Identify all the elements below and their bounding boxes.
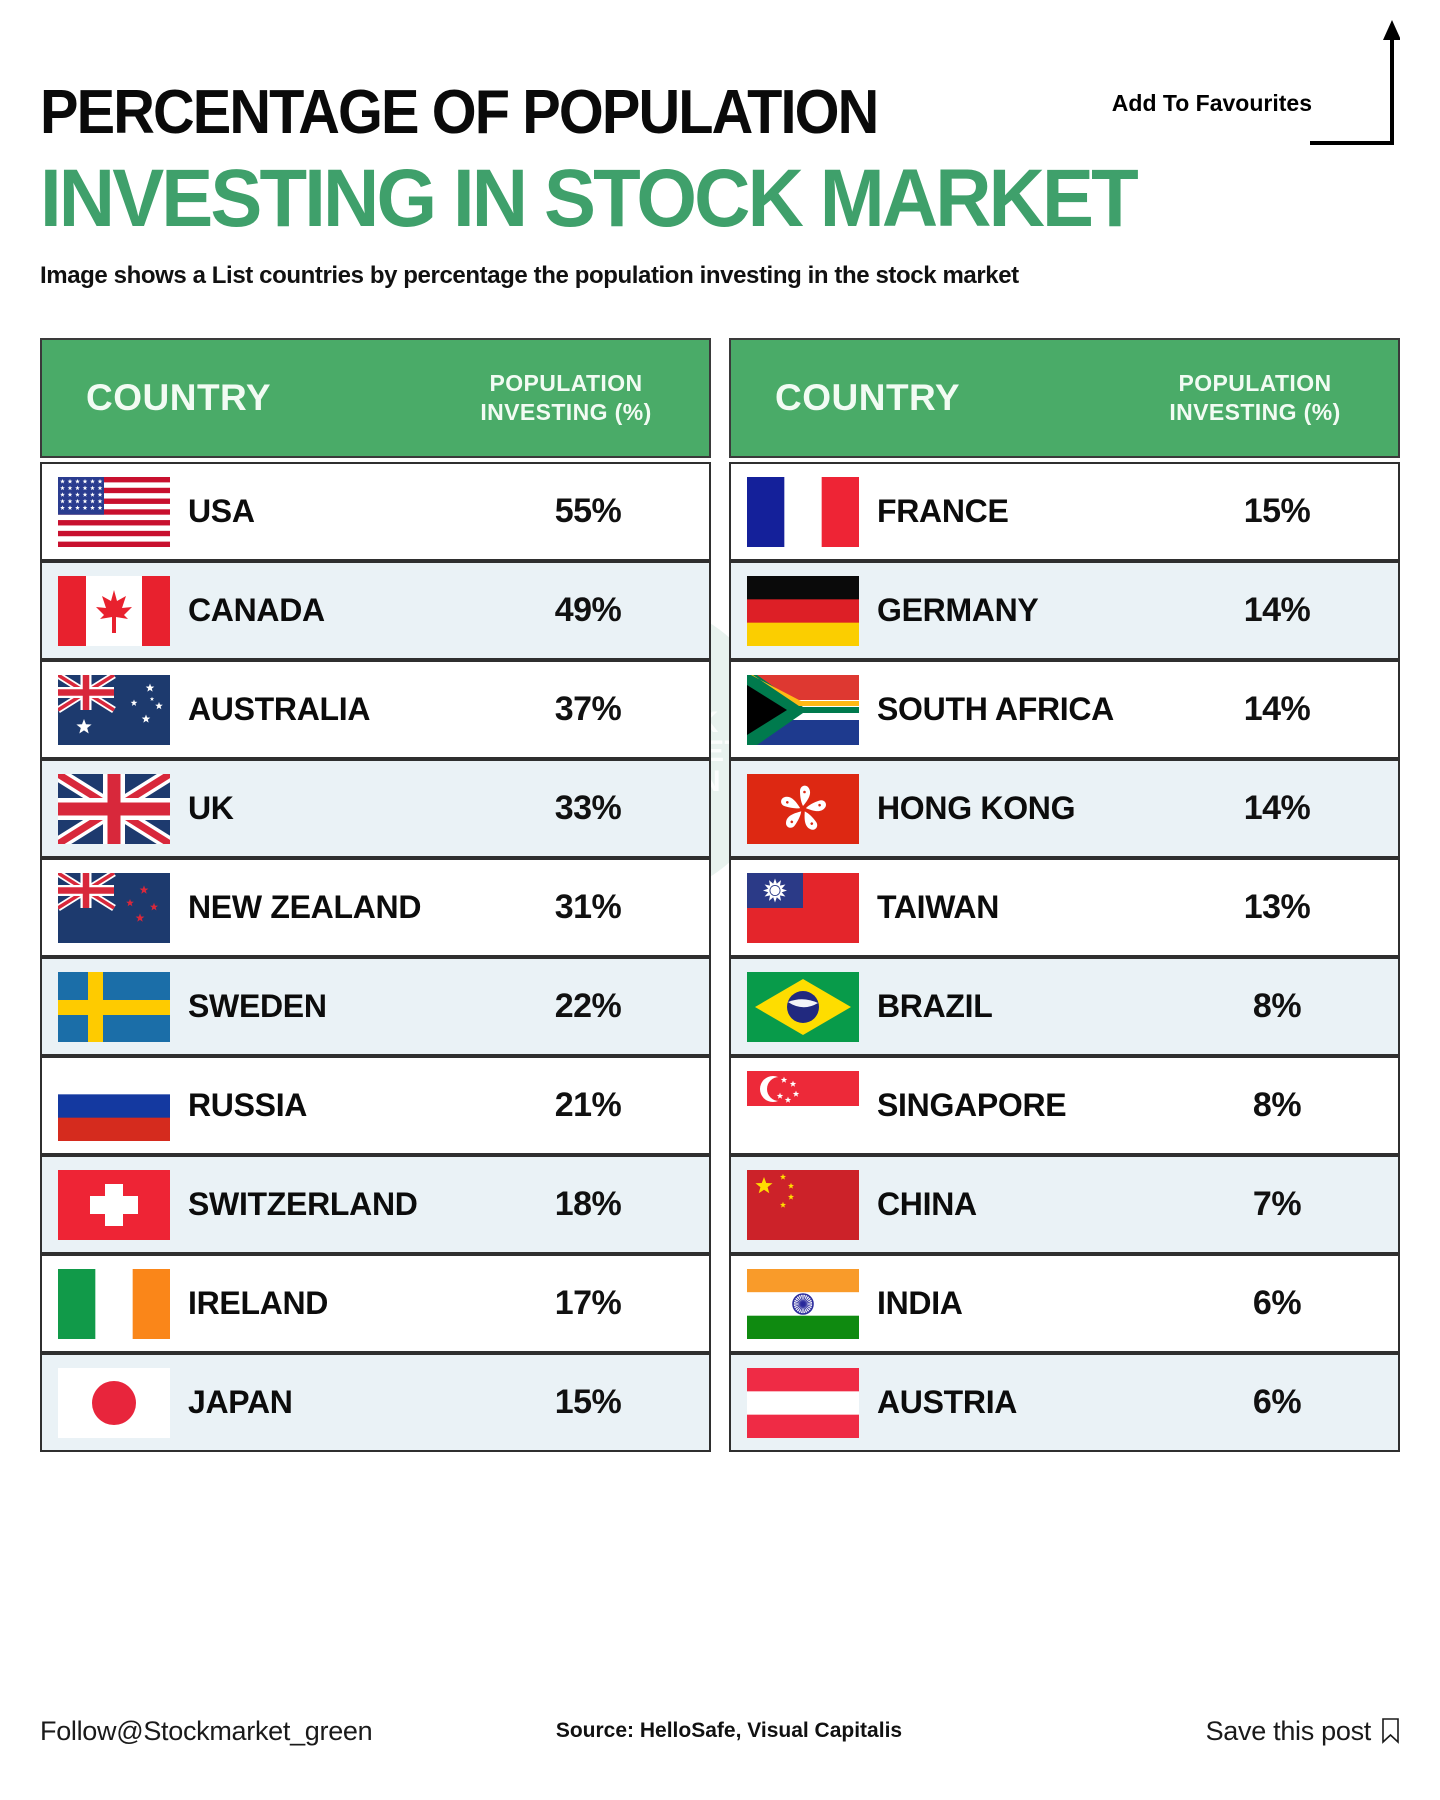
south-africa-flag	[747, 675, 859, 745]
country-name: FRANCE	[859, 493, 1172, 530]
table-row: SOUTH AFRICA14%	[729, 660, 1400, 759]
population-investing-value: 17%	[483, 1284, 693, 1323]
china-flag	[747, 1170, 859, 1240]
population-investing-value: 14%	[1172, 591, 1382, 630]
population-investing-value: 31%	[483, 888, 693, 927]
table-row: UK33%	[40, 759, 711, 858]
table-row: INDIA6%	[729, 1254, 1400, 1353]
right-table-body: FRANCE15%GERMANY14% SOUTH AFRICA14% HONG…	[729, 462, 1400, 1452]
table-row: SWITZERLAND18%	[40, 1155, 711, 1254]
population-investing-value: 18%	[483, 1185, 693, 1224]
population-investing-value: 6%	[1172, 1284, 1382, 1323]
country-name: IRELAND	[170, 1285, 483, 1322]
table-row: FRANCE15%	[729, 462, 1400, 561]
population-investing-value: 15%	[1172, 492, 1382, 531]
column-header-line2: INVESTING (%)	[441, 398, 691, 427]
canada-flag	[58, 576, 170, 646]
right-table: COUNTRY POPULATION INVESTING (%) FRANCE1…	[729, 338, 1400, 1452]
table-row: NEW ZEALAND31%	[40, 858, 711, 957]
france-flag	[747, 477, 859, 547]
brazil-flag	[747, 972, 859, 1042]
germany-flag	[747, 576, 859, 646]
population-investing-value: 14%	[1172, 690, 1382, 729]
switzerland-flag	[58, 1170, 170, 1240]
country-name: SWITZERLAND	[170, 1186, 483, 1223]
country-name: AUSTRALIA	[170, 691, 483, 728]
page-footer: Follow@Stockmarket_green Source: HelloSa…	[40, 1706, 1400, 1756]
population-investing-value: 15%	[483, 1383, 693, 1422]
hong-kong-flag	[747, 774, 859, 844]
table-row: RUSSIA21%	[40, 1056, 711, 1155]
add-to-favourites-label: Add To Favourites	[1112, 90, 1312, 117]
country-name: CANADA	[170, 592, 483, 629]
table-row: AUSTRALIA37%	[40, 660, 711, 759]
table-row: BRAZIL8%	[729, 957, 1400, 1056]
country-name: SWEDEN	[170, 988, 483, 1025]
singapore-flag	[747, 1071, 859, 1141]
population-investing-value: 13%	[1172, 888, 1382, 927]
russia-flag	[58, 1071, 170, 1141]
bookmark-icon	[1381, 1718, 1400, 1744]
population-investing-value: 22%	[483, 987, 693, 1026]
new-zealand-flag	[58, 873, 170, 943]
save-post-label: Save this post	[1206, 1716, 1371, 1747]
column-header-line2: INVESTING (%)	[1130, 398, 1380, 427]
table-row: USA55%	[40, 462, 711, 561]
table-row: AUSTRIA6%	[729, 1353, 1400, 1452]
table-row: HONG KONG14%	[729, 759, 1400, 858]
table-row: SINGAPORE8%	[729, 1056, 1400, 1155]
column-header-country: COUNTRY	[749, 377, 1130, 419]
left-table-body: USA55% CANADA49% AUSTRALIA37% UK33% NEW …	[40, 462, 711, 1452]
left-table: COUNTRY POPULATION INVESTING (%) USA55% …	[40, 338, 711, 1452]
source-credit: Source: HelloSafe, Visual Capitalis	[372, 1719, 1205, 1743]
taiwan-flag	[747, 873, 859, 943]
page-header: PERCENTAGE OF POPULATION INVESTING IN ST…	[0, 0, 1440, 290]
population-investing-value: 33%	[483, 789, 693, 828]
column-header-population-investing: POPULATION INVESTING (%)	[441, 369, 691, 427]
country-name: SINGAPORE	[859, 1087, 1172, 1124]
add-to-favourites-annotation[interactable]: Add To Favourites	[1070, 10, 1400, 150]
australia-flag	[58, 675, 170, 745]
country-name: UK	[170, 790, 483, 827]
population-investing-value: 8%	[1172, 1086, 1382, 1125]
right-table-header: COUNTRY POPULATION INVESTING (%)	[729, 338, 1400, 458]
country-name: NEW ZEALAND	[170, 889, 483, 926]
table-row: IRELAND17%	[40, 1254, 711, 1353]
population-investing-value: 7%	[1172, 1185, 1382, 1224]
country-name: RUSSIA	[170, 1087, 483, 1124]
austria-flag	[747, 1368, 859, 1438]
table-row: GERMANY14%	[729, 561, 1400, 660]
up-arrow-icon	[1310, 18, 1400, 148]
country-name: HONG KONG	[859, 790, 1172, 827]
ireland-flag	[58, 1269, 170, 1339]
page-subtitle: Image shows a List countries by percenta…	[40, 262, 1400, 290]
column-header-population-investing: POPULATION INVESTING (%)	[1130, 369, 1380, 427]
tables-container: COUNTRY POPULATION INVESTING (%) USA55% …	[40, 338, 1400, 1452]
column-header-line1: POPULATION	[441, 369, 691, 398]
country-name: SOUTH AFRICA	[859, 691, 1172, 728]
population-investing-value: 37%	[483, 690, 693, 729]
india-flag	[747, 1269, 859, 1339]
table-row: CHINA7%	[729, 1155, 1400, 1254]
population-investing-value: 49%	[483, 591, 693, 630]
population-investing-value: 55%	[483, 492, 693, 531]
country-name: JAPAN	[170, 1384, 483, 1421]
population-investing-value: 8%	[1172, 987, 1382, 1026]
usa-flag	[58, 477, 170, 547]
country-name: TAIWAN	[859, 889, 1172, 926]
population-investing-value: 6%	[1172, 1383, 1382, 1422]
population-investing-value: 14%	[1172, 789, 1382, 828]
table-row: CANADA49%	[40, 561, 711, 660]
left-table-header: COUNTRY POPULATION INVESTING (%)	[40, 338, 711, 458]
japan-flag	[58, 1368, 170, 1438]
follow-handle: Follow@Stockmarket_green	[40, 1716, 372, 1747]
country-name: INDIA	[859, 1285, 1172, 1322]
country-name: USA	[170, 493, 483, 530]
save-this-post[interactable]: Save this post	[1206, 1716, 1400, 1747]
country-name: CHINA	[859, 1186, 1172, 1223]
country-name: BRAZIL	[859, 988, 1172, 1025]
population-investing-value: 21%	[483, 1086, 693, 1125]
page-title-line2: INVESTING IN STOCK MARKET	[40, 158, 1332, 240]
country-name: AUSTRIA	[859, 1384, 1172, 1421]
column-header-line1: POPULATION	[1130, 369, 1380, 398]
country-name: GERMANY	[859, 592, 1172, 629]
table-row: TAIWAN13%	[729, 858, 1400, 957]
uk-flag	[58, 774, 170, 844]
column-header-country: COUNTRY	[60, 377, 441, 419]
table-row: SWEDEN22%	[40, 957, 711, 1056]
sweden-flag	[58, 972, 170, 1042]
table-row: JAPAN15%	[40, 1353, 711, 1452]
